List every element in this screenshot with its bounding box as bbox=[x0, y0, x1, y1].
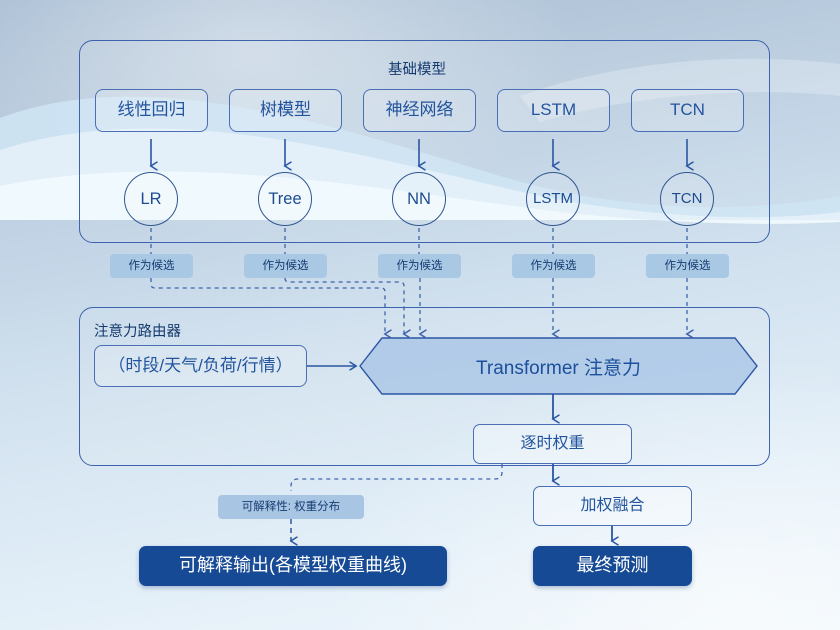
model-circle-label: LSTM bbox=[533, 191, 573, 208]
attention-block-label: Transformer 注意力 bbox=[382, 352, 735, 380]
candidate-tag-label: 作为候选 bbox=[531, 260, 577, 273]
candidate-tag-lstm: 作为候选 bbox=[512, 254, 595, 278]
model-circle-tree[interactable]: Tree bbox=[258, 172, 312, 226]
weighted-fusion-label: 加权融合 bbox=[580, 497, 644, 515]
output-box-label: 可解释输出(各模型权重曲线) bbox=[179, 556, 407, 576]
model-circle-label: LR bbox=[140, 190, 161, 208]
candidate-tag-tree: 作为候选 bbox=[244, 254, 327, 278]
base-models-group-title: 基础模型 bbox=[388, 58, 446, 79]
hourly-weights-label: 逐时权重 bbox=[520, 435, 584, 453]
model-circle-label: NN bbox=[407, 190, 431, 208]
model-circle-lstm[interactable]: LSTM bbox=[526, 172, 580, 226]
model-box-label: LSTM bbox=[531, 101, 576, 120]
candidate-tag-label: 作为候选 bbox=[129, 260, 175, 273]
candidate-tag-nn: 作为候选 bbox=[378, 254, 461, 278]
output-box-interpretable[interactable]: 可解释输出(各模型权重曲线) bbox=[139, 546, 447, 586]
model-box-tcn[interactable]: TCN bbox=[631, 89, 744, 132]
weighted-fusion-box[interactable]: 加权融合 bbox=[533, 486, 692, 526]
interpretability-tag: 可解释性: 权重分布 bbox=[218, 495, 364, 519]
context-features-box[interactable]: （时段/天气/负荷/行情） bbox=[94, 345, 307, 387]
candidate-tag-lr: 作为候选 bbox=[110, 254, 193, 278]
model-box-neural-network[interactable]: 神经网络 bbox=[363, 89, 476, 132]
interpretability-tag-label: 可解释性: 权重分布 bbox=[242, 501, 340, 514]
model-box-label: TCN bbox=[670, 101, 705, 120]
candidate-tag-label: 作为候选 bbox=[665, 260, 711, 273]
output-box-final-prediction[interactable]: 最终预测 bbox=[533, 546, 692, 586]
candidate-tag-label: 作为候选 bbox=[263, 260, 309, 273]
diagram-canvas: 基础模型 线性回归 树模型 神经网络 LSTM TCN LR Tree NN L… bbox=[0, 0, 840, 630]
model-circle-nn[interactable]: NN bbox=[392, 172, 446, 226]
router-group-title: 注意力路由器 bbox=[94, 320, 181, 341]
output-box-label: 最终预测 bbox=[577, 556, 649, 576]
model-circle-label: Tree bbox=[268, 190, 301, 208]
context-features-label: （时段/天气/负荷/行情） bbox=[108, 357, 292, 376]
model-box-lstm[interactable]: LSTM bbox=[497, 89, 610, 132]
model-circle-label: TCN bbox=[672, 191, 703, 208]
model-box-label: 神经网络 bbox=[386, 101, 454, 120]
model-box-label: 树模型 bbox=[260, 101, 311, 120]
hourly-weights-box[interactable]: 逐时权重 bbox=[473, 424, 632, 464]
model-box-label: 线性回归 bbox=[118, 101, 186, 120]
model-box-tree[interactable]: 树模型 bbox=[229, 89, 342, 132]
model-box-linear-regression[interactable]: 线性回归 bbox=[95, 89, 208, 132]
model-circle-lr[interactable]: LR bbox=[124, 172, 178, 226]
candidate-tag-tcn: 作为候选 bbox=[646, 254, 729, 278]
candidate-tag-label: 作为候选 bbox=[397, 260, 443, 273]
model-circle-tcn[interactable]: TCN bbox=[660, 172, 714, 226]
